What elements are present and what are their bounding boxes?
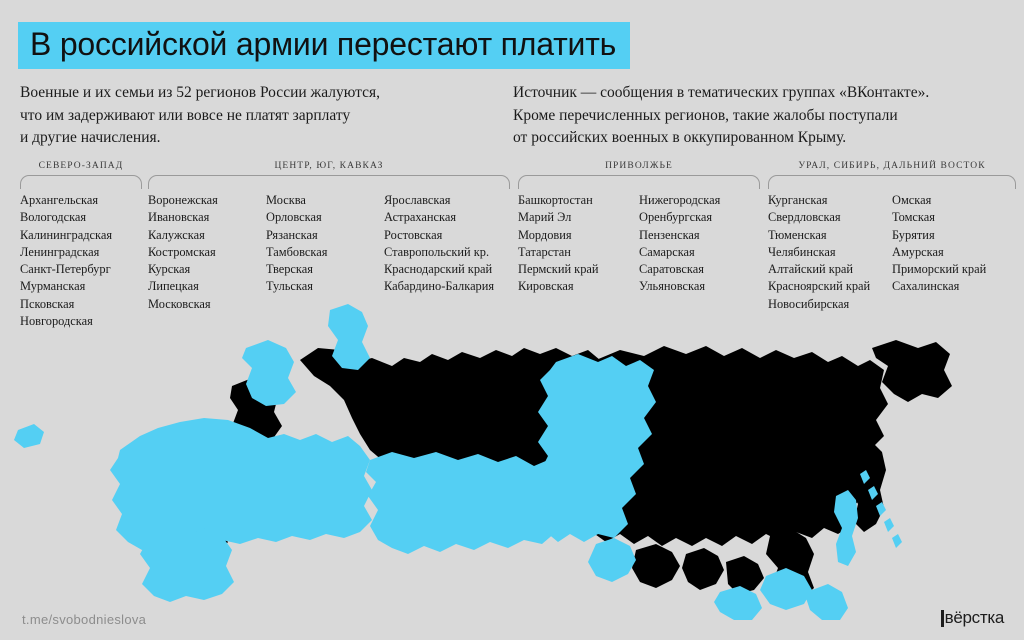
region-item: Бурятия bbox=[892, 227, 1016, 244]
bracket-decoration-volga bbox=[518, 175, 760, 185]
region-item: Архангельская bbox=[20, 192, 142, 209]
region-item: Кабардино-Балкария bbox=[384, 278, 510, 295]
region-item: Тверская bbox=[266, 261, 384, 278]
region-group-center-south-caucasus: ЦЕНТР, ЮГ, КАВКАЗ Воронежская Ивановская… bbox=[148, 160, 510, 313]
region-columns-center: Воронежская Ивановская Калужская Костром… bbox=[148, 192, 510, 313]
region-item: Татарстан bbox=[518, 244, 639, 261]
lead-left-line-3: и другие начисления. bbox=[20, 127, 500, 150]
group-header-volga: ПРИВОЛЖЬЕ bbox=[518, 160, 760, 173]
region-column: Москва Орловская Рязанская Тамбовская Тв… bbox=[266, 192, 384, 313]
region-item: Тамбовская bbox=[266, 244, 384, 261]
lead-left-line-1: Военные и их семьи из 52 регионов России… bbox=[20, 82, 500, 105]
region-item: Тюменская bbox=[768, 227, 892, 244]
region-item: Самарская bbox=[639, 244, 760, 261]
region-item: Башкортостан bbox=[518, 192, 639, 209]
region-item: Пермский край bbox=[518, 261, 639, 278]
lead-paragraph-right: Источник — сообщения в тематических груп… bbox=[513, 82, 1013, 150]
region-columns-ural: Курганская Свердловская Тюменская Челяби… bbox=[768, 192, 1016, 313]
infographic-page: В российской армии перестают платить Вое… bbox=[0, 0, 1024, 640]
region-item: Вологодская bbox=[20, 209, 142, 226]
region-item: Курская bbox=[148, 261, 266, 278]
region-item: Липецкая bbox=[148, 278, 266, 295]
telegram-handle[interactable]: t.me/svobodnieslova bbox=[22, 612, 146, 627]
region-item: Томская bbox=[892, 209, 1016, 226]
region-column: Башкортостан Марий Эл Мордовия Татарстан… bbox=[518, 192, 639, 296]
region-columns-volga: Башкортостан Марий Эл Мордовия Татарстан… bbox=[518, 192, 760, 296]
logo-mark-icon bbox=[941, 610, 944, 627]
region-item: Марий Эл bbox=[518, 209, 639, 226]
region-column: Воронежская Ивановская Калужская Костром… bbox=[148, 192, 266, 313]
region-item: Санкт-Петербург bbox=[20, 261, 142, 278]
region-group-ural-siberia-fareast: УРАЛ, СИБИРЬ, ДАЛЬНИЙ ВОСТОК Курганская … bbox=[768, 160, 1016, 313]
region-item: Кировская bbox=[518, 278, 639, 295]
region-item: Мордовия bbox=[518, 227, 639, 244]
lead-left-line-2: что им задерживают или вовсе не платят з… bbox=[20, 105, 500, 128]
region-column: Нижегородская Оренбургская Пензенская Са… bbox=[639, 192, 760, 296]
region-item: Пензенская bbox=[639, 227, 760, 244]
region-column: Курганская Свердловская Тюменская Челяби… bbox=[768, 192, 892, 313]
region-item: Красноярский край bbox=[768, 278, 892, 295]
region-item: Свердловская bbox=[768, 209, 892, 226]
region-item: Приморский край bbox=[892, 261, 1016, 278]
logo-text: вёрстка bbox=[945, 608, 1004, 628]
region-item: Челябинская bbox=[768, 244, 892, 261]
region-item: Тульская bbox=[266, 278, 384, 295]
group-header-ural: УРАЛ, СИБИРЬ, ДАЛЬНИЙ ВОСТОК bbox=[768, 160, 1016, 173]
region-item: Алтайский край bbox=[768, 261, 892, 278]
region-groups: СЕВЕРО-ЗАПАД Архангельская Вологодская К… bbox=[0, 160, 1024, 310]
region-item: Калужская bbox=[148, 227, 266, 244]
region-item: Оренбургская bbox=[639, 209, 760, 226]
region-item: Амурская bbox=[892, 244, 1016, 261]
region-item: Краснодарский край bbox=[384, 261, 510, 278]
region-column: Омская Томская Бурятия Амурская Приморск… bbox=[892, 192, 1016, 313]
lead-right-line-1: Источник — сообщения в тематических груп… bbox=[513, 82, 1013, 105]
lead-paragraph-left: Военные и их семьи из 52 регионов России… bbox=[20, 82, 500, 150]
bracket-decoration-northwest bbox=[20, 175, 142, 185]
page-title: В российской армии перестают платить bbox=[30, 25, 616, 63]
russia-choropleth-map bbox=[0, 300, 1024, 620]
lead-right-line-3: от российских военных в оккупированном К… bbox=[513, 127, 1013, 150]
region-item: Ивановская bbox=[148, 209, 266, 226]
region-item: Калининградская bbox=[20, 227, 142, 244]
region-item: Ленинградская bbox=[20, 244, 142, 261]
region-item: Астраханская bbox=[384, 209, 510, 226]
region-item: Курганская bbox=[768, 192, 892, 209]
region-item: Воронежская bbox=[148, 192, 266, 209]
title-banner: В российской армии перестают платить bbox=[18, 22, 630, 69]
lead-right-line-2: Кроме перечисленных регионов, такие жало… bbox=[513, 105, 1013, 128]
map-svg bbox=[0, 300, 1024, 620]
region-item: Орловская bbox=[266, 209, 384, 226]
region-item: Костромская bbox=[148, 244, 266, 261]
region-item: Ростовская bbox=[384, 227, 510, 244]
region-group-volga: ПРИВОЛЖЬЕ Башкортостан Марий Эл Мордовия… bbox=[518, 160, 760, 296]
region-item: Ярославская bbox=[384, 192, 510, 209]
group-header-center: ЦЕНТР, ЮГ, КАВКАЗ bbox=[148, 160, 510, 173]
region-item: Саратовская bbox=[639, 261, 760, 278]
region-item: Омская bbox=[892, 192, 1016, 209]
region-column: Ярославская Астраханская Ростовская Став… bbox=[384, 192, 510, 313]
region-item: Ставропольский кр. bbox=[384, 244, 510, 261]
group-header-northwest: СЕВЕРО-ЗАПАД bbox=[20, 160, 142, 173]
bracket-decoration-ural bbox=[768, 175, 1016, 185]
region-item: Сахалинская bbox=[892, 278, 1016, 295]
bracket-decoration-center bbox=[148, 175, 510, 185]
region-item: Нижегородская bbox=[639, 192, 760, 209]
region-item: Рязанская bbox=[266, 227, 384, 244]
region-item: Ульяновская bbox=[639, 278, 760, 295]
verstka-logo[interactable]: вёрстка bbox=[941, 608, 1004, 628]
region-item: Москва bbox=[266, 192, 384, 209]
region-item: Мурманская bbox=[20, 278, 142, 295]
